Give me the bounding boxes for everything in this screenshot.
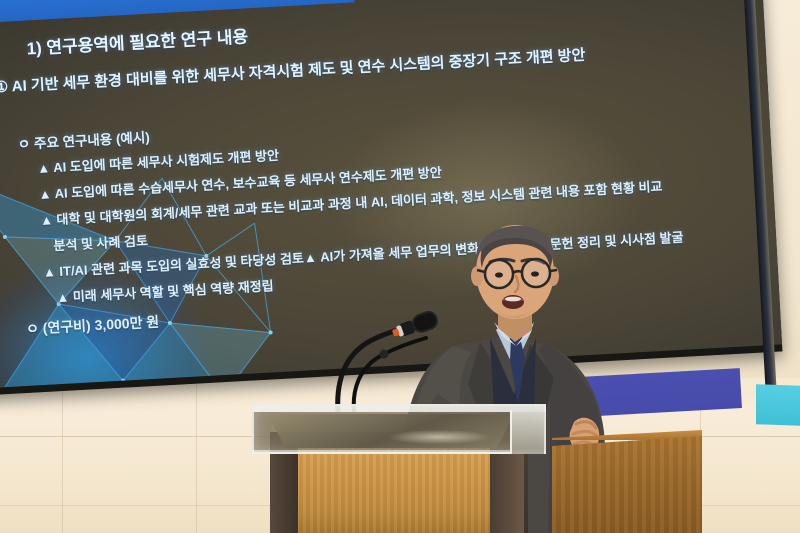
presentation-photo: 1. 연구용역 내실화 방안 1) 연구용역에 필요한 연구 내용 ① AI 기… bbox=[0, 0, 800, 533]
podium-glass-reflection bbox=[374, 428, 504, 446]
podium bbox=[252, 404, 546, 533]
podium-wood-panel bbox=[296, 446, 492, 533]
wall-vertical-joint bbox=[196, 378, 197, 533]
cyan-accent-panel bbox=[756, 384, 800, 426]
podium-glass-side bbox=[510, 410, 544, 454]
wall-vertical-joint bbox=[62, 378, 63, 533]
side-table bbox=[552, 436, 702, 533]
podium-glass-top bbox=[252, 404, 546, 454]
